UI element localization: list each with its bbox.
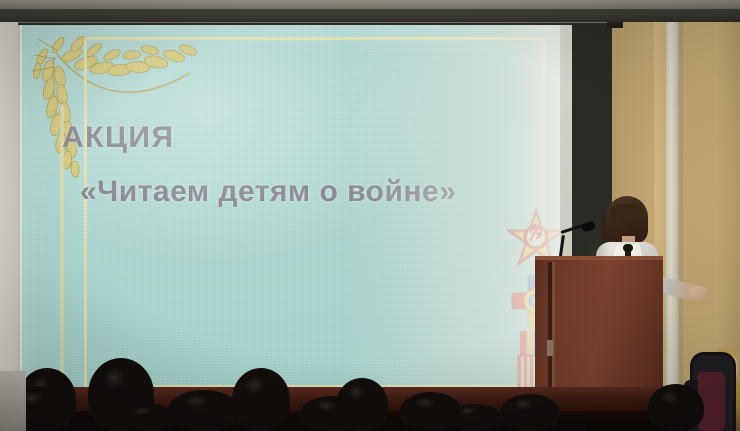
- audience-head-12: [118, 404, 178, 431]
- ceiling-trim: [0, 0, 740, 9]
- audience-head-5: [232, 368, 290, 431]
- audience-head-11: [648, 384, 704, 431]
- slide-subtitle: «Читаем детям о войне»: [80, 177, 532, 207]
- podium-fitting: [547, 340, 553, 356]
- audience-head-7: [336, 378, 388, 431]
- slide-title: АКЦИЯ: [62, 123, 532, 153]
- presenter-fringe: [610, 204, 644, 217]
- slide-text-block: АКЦИЯ «Читаем детям о войне»: [62, 123, 532, 207]
- presenter-necktie-knot: [623, 244, 633, 252]
- presentation-photo: АКЦИЯ «Читаем детям о войне»: [0, 0, 740, 431]
- audience-head-10: [500, 394, 560, 431]
- audience-head-9: [446, 404, 502, 431]
- audience-head-4: [168, 390, 240, 431]
- left-wall-foreground: [0, 371, 26, 431]
